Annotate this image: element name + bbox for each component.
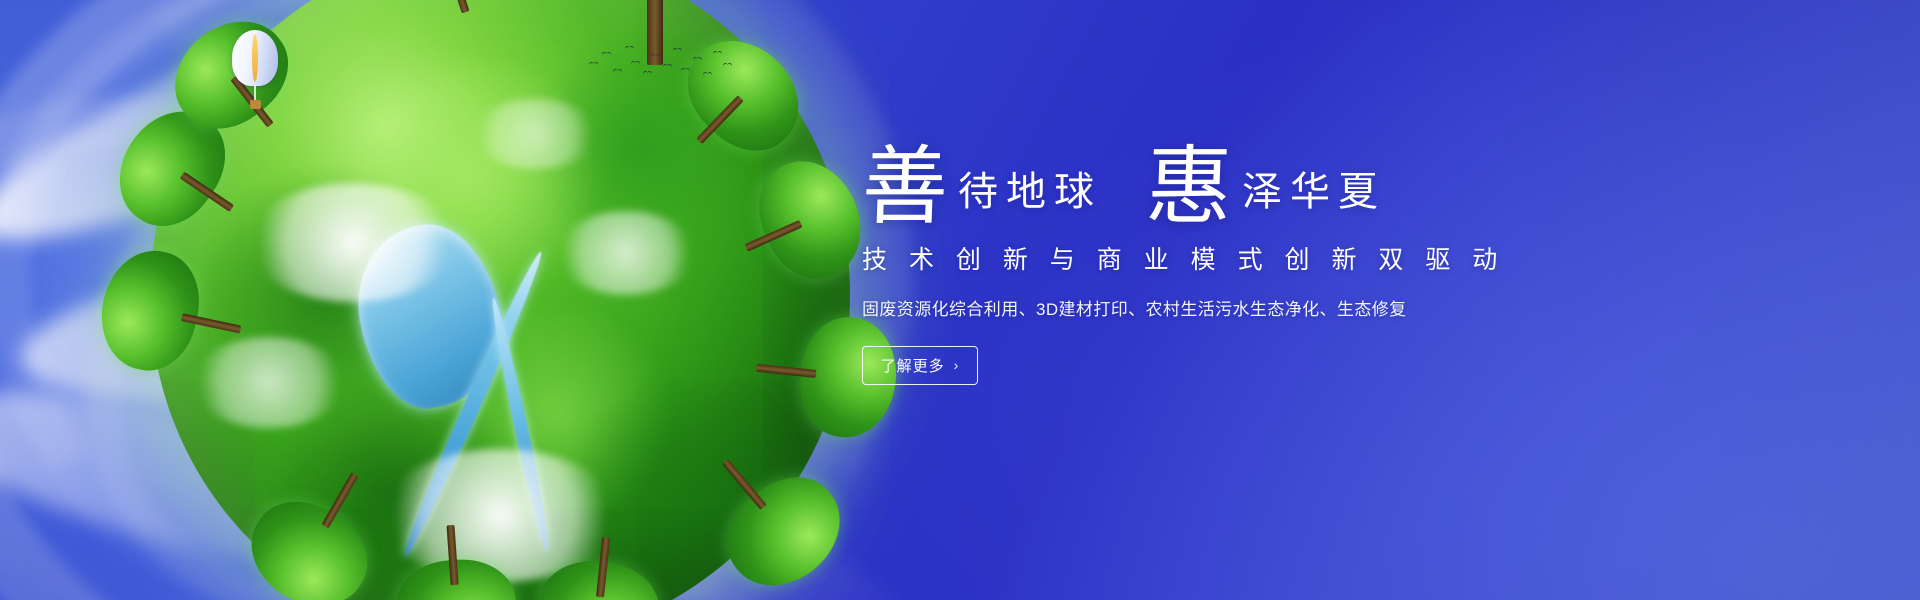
tree-icon	[396, 521, 515, 600]
headline-rest-chars: 待地球	[958, 172, 1102, 218]
tree-icon	[544, 532, 656, 600]
subtitle: 技 术 创 新 与 商 业 模 式 创 新 双 驱 动	[862, 240, 1562, 276]
cloud-icon	[472, 99, 598, 169]
balloon-basket	[250, 100, 261, 109]
headline-rest-chars: 泽华夏	[1242, 172, 1386, 218]
balloon-stripe	[252, 34, 258, 82]
balloon-rope	[254, 85, 256, 101]
page-title: 善 待地球 惠 泽华夏	[862, 122, 1562, 218]
hot-air-balloon-icon	[232, 30, 278, 116]
hero-content: 善 待地球 惠 泽华夏 技 术 创 新 与 商 业 模 式 创 新 双 驱 动 …	[862, 122, 1562, 385]
cloud-icon	[556, 211, 696, 295]
headline-group-1: 善 待地球	[862, 142, 1102, 218]
learn-more-label: 了解更多	[881, 355, 945, 376]
cloud-icon	[248, 183, 458, 302]
hero-banner: 善 待地球 惠 泽华夏 技 术 创 新 与 商 业 模 式 创 新 双 驱 动 …	[0, 0, 1920, 600]
headline-group-2: 惠 泽华夏	[1146, 142, 1386, 218]
learn-more-button[interactable]: 了解更多 ›	[862, 346, 978, 385]
headline-lead-char: 善	[861, 150, 950, 226]
birds-flock-icon	[585, 42, 735, 90]
headline-lead-char: 惠	[1145, 150, 1234, 226]
description-text: 固废资源化综合利用、3D建材打印、农村生活污水生态净化、生态修复	[862, 295, 1562, 320]
chevron-right-icon: ›	[954, 358, 960, 372]
